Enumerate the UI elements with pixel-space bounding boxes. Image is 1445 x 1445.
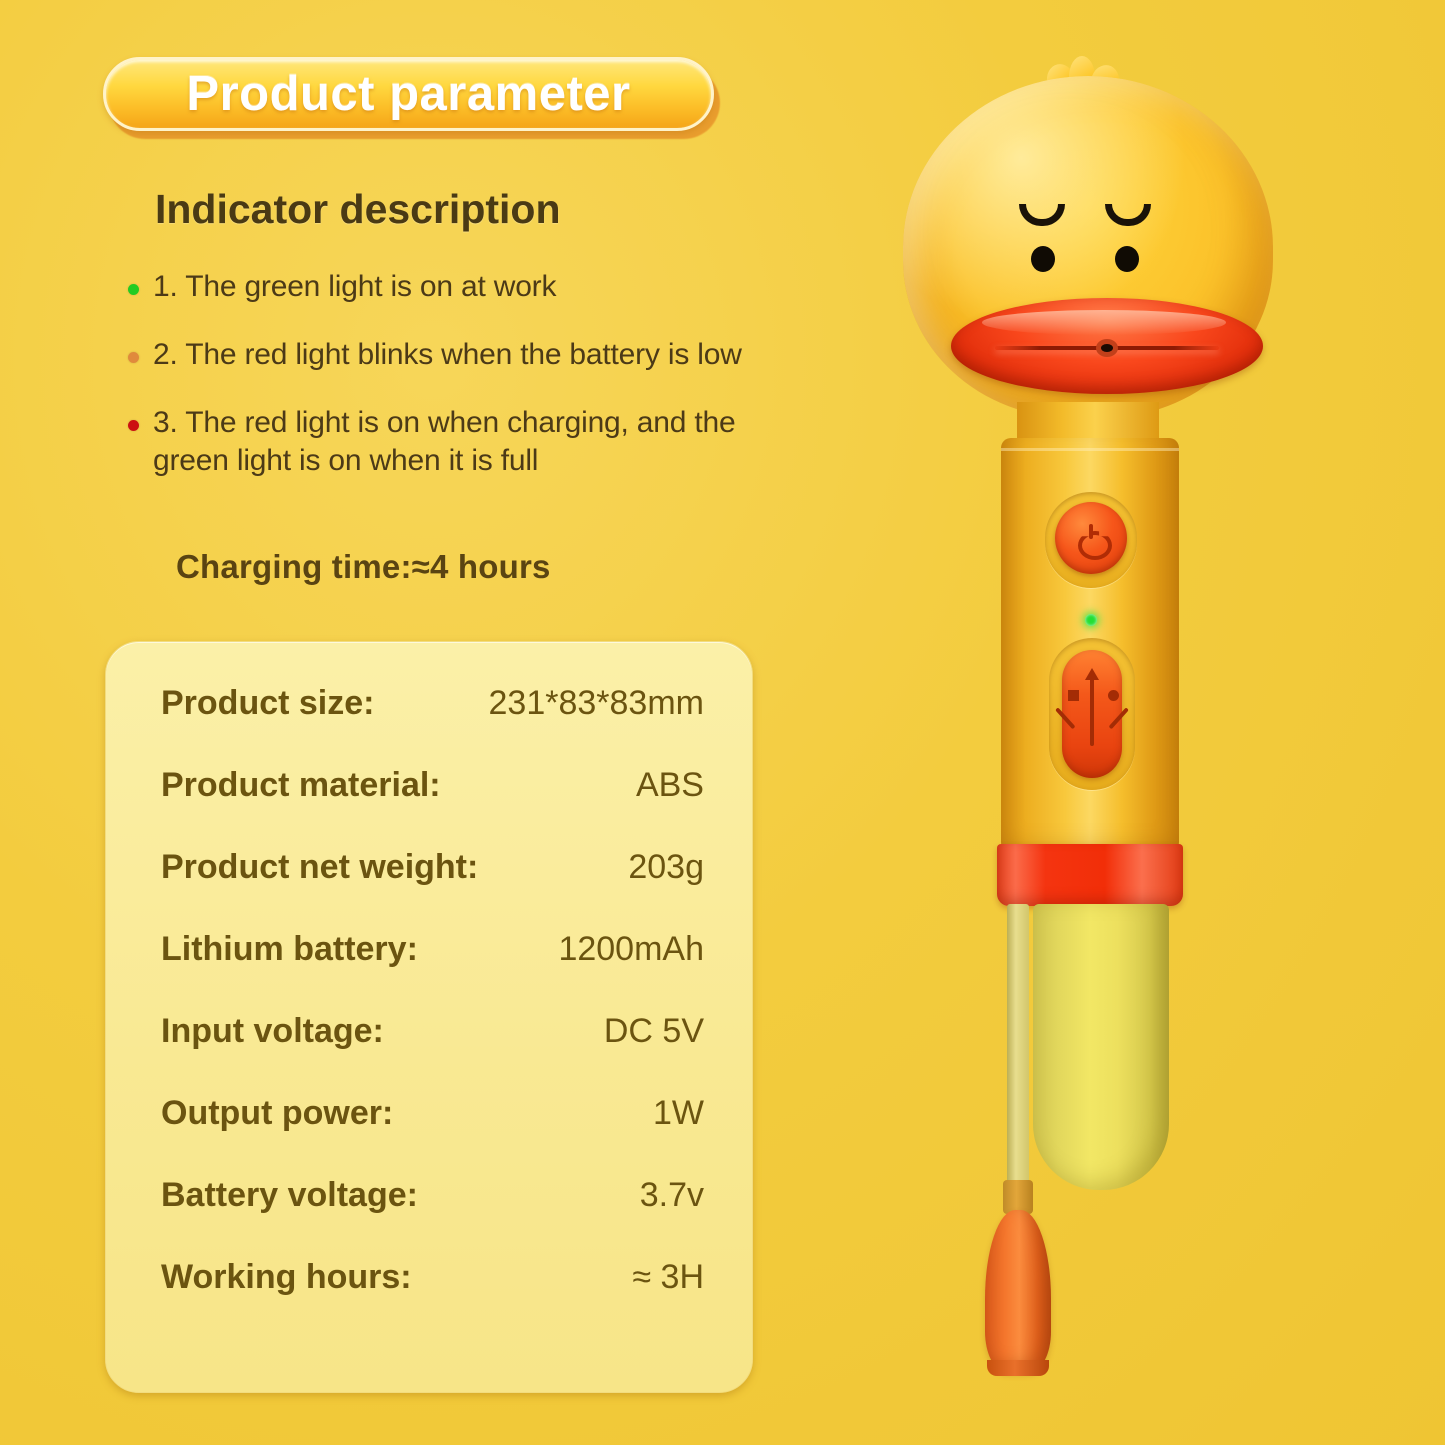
- red-base-band: [997, 844, 1183, 906]
- bullet-dot-red-icon: [128, 420, 139, 431]
- bullet-dot-orange-icon: [128, 352, 139, 363]
- spec-value: 203g: [628, 848, 704, 887]
- whisk-paddle: [985, 1210, 1051, 1372]
- duck-beak: [951, 298, 1263, 394]
- banner-pill: Product parameter: [103, 57, 714, 131]
- whisk-paddle-tip: [987, 1360, 1049, 1376]
- usb-icon-dot: [1108, 690, 1119, 701]
- spec-label: Working hours:: [161, 1258, 412, 1297]
- spec-row-input-voltage: Input voltage: DC 5V: [161, 1012, 704, 1051]
- spec-row-net-weight: Product net weight: 203g: [161, 848, 704, 887]
- body-seam-line: [1001, 448, 1179, 451]
- eyebrow-left-icon: [1019, 204, 1065, 226]
- eye-right-icon: [1115, 246, 1139, 272]
- yellow-protective-cap: [1033, 904, 1169, 1190]
- spec-row-battery-voltage: Battery voltage: 3.7v: [161, 1176, 704, 1215]
- power-icon: [1078, 524, 1104, 552]
- usb-icon-stem: [1090, 674, 1094, 746]
- spec-value: ≈ 3H: [632, 1258, 704, 1297]
- spec-label: Product net weight:: [161, 848, 478, 887]
- usb-port-recess: [1049, 638, 1135, 790]
- specification-card: Product size: 231*83*83mm Product materi…: [105, 641, 753, 1393]
- spec-value: 1200mAh: [558, 930, 704, 969]
- spec-row-lithium-battery: Lithium battery: 1200mAh: [161, 930, 704, 969]
- device-handle-body: [1001, 438, 1179, 856]
- spec-value: 3.7v: [640, 1176, 704, 1215]
- spec-value: 1W: [653, 1094, 704, 1133]
- list-item: 3. The red light is on when charging, an…: [128, 404, 788, 480]
- spec-row-output-power: Output power: 1W: [161, 1094, 704, 1133]
- spec-label: Product size:: [161, 684, 374, 723]
- charging-time-label: Charging time:≈4 hours: [176, 548, 551, 586]
- eyebrow-right-icon: [1105, 204, 1151, 226]
- spec-value: ABS: [636, 766, 704, 805]
- spec-label: Lithium battery:: [161, 930, 418, 969]
- eye-left-icon: [1031, 246, 1055, 272]
- list-item-label: 3. The red light is on when charging, an…: [153, 404, 788, 480]
- spec-row-product-material: Product material: ABS: [161, 766, 704, 805]
- product-parameter-banner: Product parameter: [103, 57, 720, 139]
- usb-icon-arm-left: [1055, 707, 1075, 729]
- led-indicator-green: [1085, 614, 1097, 626]
- banner-title: Product parameter: [186, 66, 630, 122]
- usb-icon-arm-right: [1109, 707, 1129, 729]
- usb-port-cover[interactable]: [1062, 650, 1122, 778]
- spec-label: Battery voltage:: [161, 1176, 418, 1215]
- usb-icon-square: [1068, 690, 1079, 701]
- beak-center-hole: [1096, 339, 1118, 357]
- power-button[interactable]: [1055, 502, 1127, 574]
- list-item: 2. The red light blinks when the battery…: [128, 336, 828, 374]
- bullet-dot-green-icon: [128, 284, 139, 295]
- product-photo-duck-device: [885, 20, 1315, 1440]
- spec-label: Input voltage:: [161, 1012, 384, 1051]
- spec-value: 231*83*83mm: [489, 684, 704, 723]
- list-item: 1. The green light is on at work: [128, 268, 828, 306]
- whisk-stem: [1007, 904, 1029, 1186]
- list-item-label: 1. The green light is on at work: [153, 268, 556, 306]
- indicator-list: 1. The green light is on at work 2. The …: [128, 268, 828, 510]
- spec-value: DC 5V: [604, 1012, 704, 1051]
- indicator-description-heading: Indicator description: [155, 186, 561, 233]
- whisk-collar: [1003, 1180, 1033, 1214]
- power-button-recess: [1045, 492, 1137, 588]
- duck-head: [903, 76, 1273, 418]
- list-item-label: 2. The red light blinks when the battery…: [153, 336, 742, 374]
- spec-row-product-size: Product size: 231*83*83mm: [161, 684, 704, 723]
- spec-row-working-hours: Working hours: ≈ 3H: [161, 1258, 704, 1297]
- spec-label: Product material:: [161, 766, 441, 805]
- spec-label: Output power:: [161, 1094, 393, 1133]
- beak-gloss: [982, 310, 1225, 335]
